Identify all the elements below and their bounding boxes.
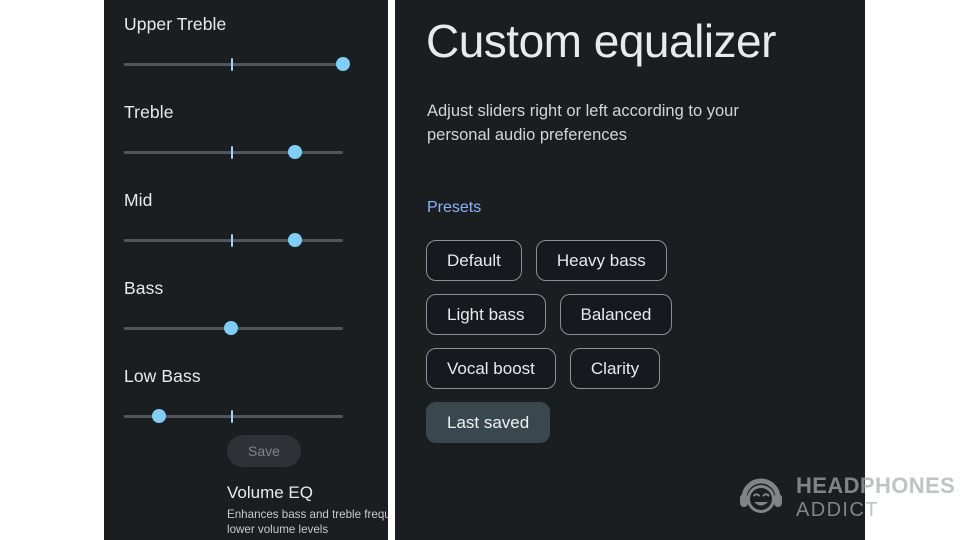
preset-button-light-bass[interactable]: Light bass — [426, 294, 546, 335]
page-subtitle: Adjust sliders right or left according t… — [427, 99, 799, 147]
slider-thumb[interactable] — [336, 57, 350, 71]
preset-button-heavy-bass[interactable]: Heavy bass — [536, 240, 667, 281]
watermark-line-1: HEADPHONES — [796, 475, 955, 497]
preset-button-balanced[interactable]: Balanced — [560, 294, 673, 335]
preset-button-default[interactable]: Default — [426, 240, 522, 281]
volume-eq-description: Enhances bass and treble frequencies at … — [227, 507, 388, 537]
screenshot-root: Upper TrebleTrebleMidBassLow Bass Save V… — [0, 0, 960, 540]
headphones-smiley-logo-icon — [737, 473, 785, 521]
preset-button-group: DefaultHeavy bassLight bassBalancedVocal… — [426, 240, 856, 456]
eq-band-slider[interactable] — [124, 144, 368, 160]
watermark-line-2: ADDICT — [796, 500, 955, 520]
headphones-addict-watermark: HEADPHONES ADDICT — [737, 473, 955, 521]
eq-band-label: Bass — [124, 278, 368, 299]
volume-eq-row[interactable]: Volume EQ Enhances bass and treble frequ… — [227, 483, 388, 537]
eq-band-slider[interactable] — [124, 232, 368, 248]
slider-thumb[interactable] — [288, 145, 302, 159]
eq-band-label: Low Bass — [124, 366, 368, 387]
eq-band-label: Treble — [124, 102, 368, 123]
preset-button-vocal-boost[interactable]: Vocal boost — [426, 348, 556, 389]
slider-thumb[interactable] — [152, 409, 166, 423]
slider-thumb[interactable] — [288, 233, 302, 247]
volume-eq-title: Volume EQ — [227, 483, 388, 503]
eq-band-treble: Treble — [124, 102, 368, 160]
preset-button-clarity[interactable]: Clarity — [570, 348, 660, 389]
preset-button-last-saved[interactable]: Last saved — [426, 402, 550, 443]
preset-row: Last saved — [426, 402, 856, 443]
eq-band-slider[interactable] — [124, 56, 368, 72]
eq-band-label: Mid — [124, 190, 368, 211]
eq-band-low-bass: Low Bass — [124, 366, 368, 424]
preset-row: Light bassBalanced — [426, 294, 856, 335]
custom-equalizer-panel: Custom equalizer Adjust sliders right or… — [395, 0, 865, 540]
eq-band-slider[interactable] — [124, 408, 368, 424]
preset-row: Vocal boostClarity — [426, 348, 856, 389]
preset-row: DefaultHeavy bass — [426, 240, 856, 281]
presets-section-label: Presets — [427, 199, 481, 217]
eq-band-slider[interactable] — [124, 320, 368, 336]
slider-track[interactable] — [124, 239, 343, 242]
eq-band-mid: Mid — [124, 190, 368, 248]
page-title: Custom equalizer — [426, 14, 776, 68]
save-button[interactable]: Save — [227, 435, 301, 467]
slider-thumb[interactable] — [224, 321, 238, 335]
eq-band-bass: Bass — [124, 278, 368, 336]
eq-band-label: Upper Treble — [124, 14, 368, 35]
eq-band-upper-treble: Upper Treble — [124, 14, 368, 72]
slider-track[interactable] — [124, 151, 343, 154]
equalizer-sliders-panel: Upper TrebleTrebleMidBassLow Bass Save V… — [104, 0, 388, 540]
slider-track[interactable] — [124, 63, 343, 66]
